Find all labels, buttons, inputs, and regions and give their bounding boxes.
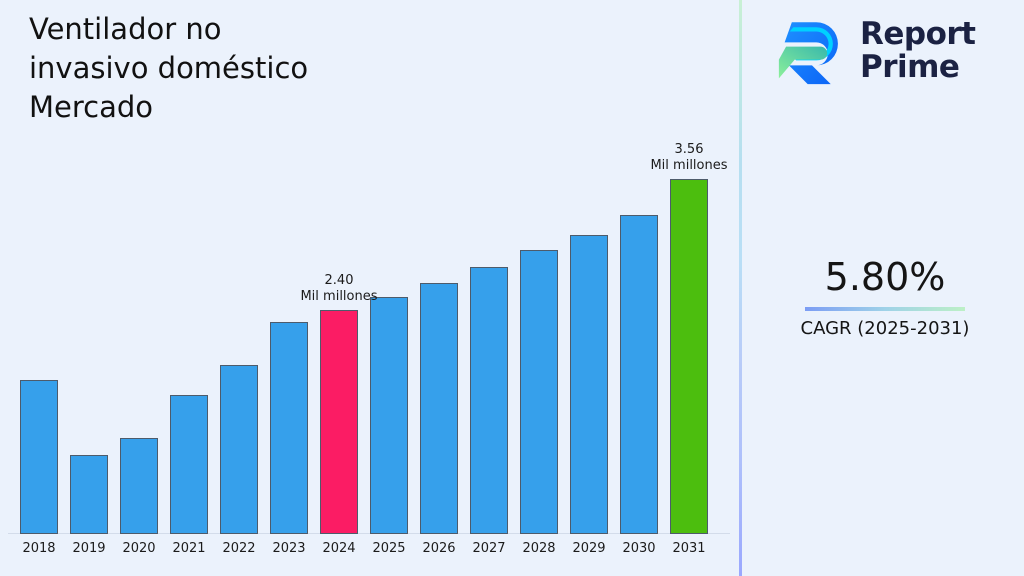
- bar-2027[interactable]: [470, 267, 508, 534]
- bar-annotation-2031: 3.56 Mil millones: [629, 142, 749, 174]
- cagr-block: 5.80% CAGR (2025-2031): [760, 255, 1010, 340]
- bar-2022[interactable]: [220, 365, 258, 534]
- bar-2021[interactable]: [170, 395, 208, 534]
- bar-chart-plot-area: 2018201920202021202220232024202520262027…: [0, 0, 739, 576]
- bar-2019[interactable]: [70, 455, 108, 534]
- bar-2025[interactable]: [370, 297, 408, 534]
- chart-canvas: Ventilador no invasivo doméstico Mercado…: [0, 0, 1024, 576]
- bar-2024[interactable]: [320, 310, 358, 534]
- bar-2026[interactable]: [420, 283, 458, 534]
- bar-2029[interactable]: [570, 235, 608, 534]
- panel-divider: [739, 0, 742, 576]
- bar-2023[interactable]: [270, 322, 308, 534]
- cagr-label: CAGR (2025-2031): [760, 318, 1010, 340]
- bar-2031[interactable]: [670, 179, 708, 534]
- cagr-value: 5.80%: [760, 255, 1010, 299]
- bar-2018[interactable]: [20, 380, 58, 534]
- x-tick-2031: 2031: [659, 540, 719, 557]
- brand-name: Report Prime: [860, 18, 976, 84]
- cagr-divider-rule: [805, 307, 965, 311]
- bar-2028[interactable]: [520, 250, 558, 534]
- bar-2030[interactable]: [620, 215, 658, 534]
- brand-logo: Report Prime: [776, 12, 1006, 90]
- bar-2020[interactable]: [120, 438, 158, 534]
- report-prime-r-logo-icon: [776, 15, 848, 87]
